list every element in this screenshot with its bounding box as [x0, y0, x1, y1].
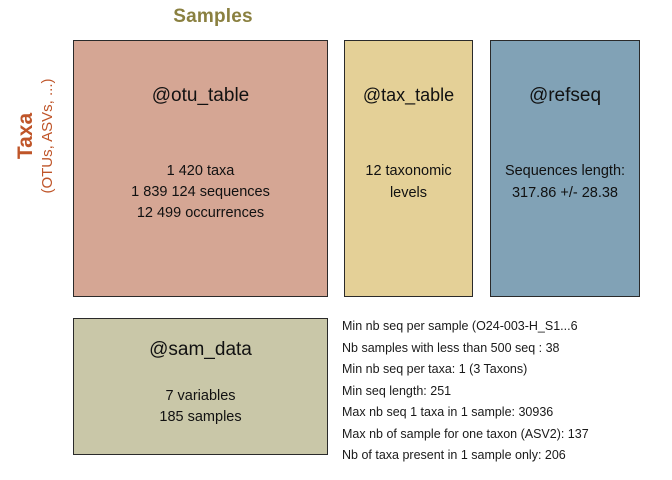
taxa-axis-label-group: Taxa (OTUs, ASVs, ...)	[0, 26, 72, 246]
tax-table-box: @tax_table 12 taxonomic levels	[344, 40, 473, 297]
otu-table-stat-line: 1 420 taxa	[131, 161, 270, 182]
otu-table-title: @otu_table	[152, 85, 249, 108]
tax-table-stat-line: levels	[365, 182, 451, 204]
summary-stat-line: Min nb seq per sample (O24-003-H_S1...6	[342, 316, 662, 338]
phyloseq-summary-figure: Samples Taxa (OTUs, ASVs, ...) @otu_tabl…	[0, 0, 672, 480]
summary-stat-line: Nb of taxa present in 1 sample only: 206	[342, 445, 662, 467]
refseq-stat-line: 317.86 +/- 28.38	[505, 183, 625, 205]
summary-stat-line: Nb samples with less than 500 seq : 38	[342, 338, 662, 360]
sam-data-stat-line: 7 variables	[159, 386, 241, 407]
otu-table-stats: 1 420 taxa 1 839 124 sequences 12 499 oc…	[131, 161, 270, 224]
summary-statistics-block: Min nb seq per sample (O24-003-H_S1...6 …	[342, 316, 662, 467]
samples-axis-label: Samples	[143, 6, 283, 28]
refseq-box: @refseq Sequences length: 317.86 +/- 28.…	[490, 40, 640, 297]
sam-data-stats: 7 variables 185 samples	[159, 386, 241, 428]
tax-table-title: @tax_table	[363, 85, 454, 107]
taxa-axis-label: Taxa	[15, 113, 37, 159]
summary-stat-line: Min nb seq per taxa: 1 (3 Taxons)	[342, 359, 662, 381]
otu-table-stat-line: 12 499 occurrences	[131, 203, 270, 224]
summary-stat-line: Max nb seq 1 taxa in 1 sample: 30936	[342, 402, 662, 424]
summary-stat-line: Max nb of sample for one taxon (ASV2): 1…	[342, 424, 662, 446]
sam-data-title: @sam_data	[149, 339, 252, 362]
summary-stat-line: Min seq length: 251	[342, 381, 662, 403]
otu-table-box: @otu_table 1 420 taxa 1 839 124 sequence…	[73, 40, 328, 297]
refseq-stats: Sequences length: 317.86 +/- 28.38	[505, 161, 625, 205]
refseq-title: @refseq	[529, 85, 601, 108]
refseq-stat-line: Sequences length:	[505, 161, 625, 183]
taxa-axis-sublabel: (OTUs, ASVs, ...)	[39, 79, 57, 194]
tax-table-stat-line: 12 taxonomic	[365, 160, 451, 182]
tax-table-stats: 12 taxonomic levels	[365, 160, 451, 205]
otu-table-stat-line: 1 839 124 sequences	[131, 182, 270, 203]
sam-data-stat-line: 185 samples	[159, 407, 241, 428]
sam-data-box: @sam_data 7 variables 185 samples	[73, 318, 328, 455]
